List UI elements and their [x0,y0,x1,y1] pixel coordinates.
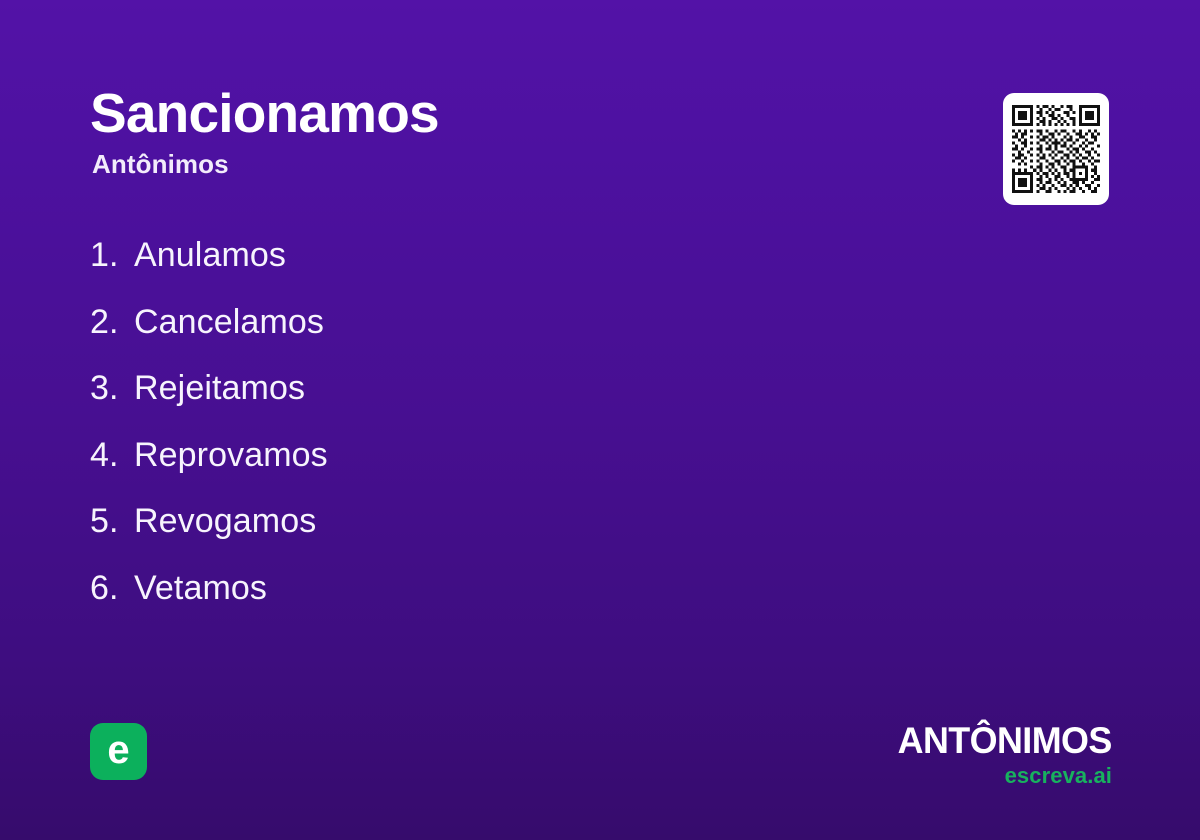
list-item-index: 2. [90,303,134,342]
escreva-e-logo-icon: e [90,723,147,780]
list-item: 3. Rejeitamos [90,369,850,436]
antonym-card: Sancionamos Antônimos [0,0,1200,840]
list-item-index: 6. [90,569,134,608]
list-item: 5. Revogamos [90,502,850,569]
list-item: 4. Reprovamos [90,436,850,503]
page-subtitle: Antônimos [92,149,950,180]
brand-lockup: ANTÔNIMOS escreva.ai [891,722,1112,787]
qr-code-icon [1012,105,1100,193]
list-item-word: Reprovamos [134,436,328,475]
page-title: Sancionamos [90,84,950,142]
list-item-word: Rejeitamos [134,369,305,408]
list-item-index: 1. [90,236,134,275]
list-item-word: Vetamos [134,569,267,608]
list-item-index: 3. [90,369,134,408]
list-item-index: 5. [90,502,134,541]
list-item-index: 4. [90,436,134,475]
list-item: 1. Anulamos [90,236,850,303]
badge-letter: e [107,730,129,770]
list-item-word: Cancelamos [134,303,324,342]
list-item-word: Anulamos [134,236,286,275]
card-header: Sancionamos Antônimos [90,84,950,180]
list-item: 6. Vetamos [90,569,850,636]
brand-website: escreva.ai [891,765,1112,787]
antonym-list: 1. Anulamos 2. Cancelamos 3. Rejeitamos … [90,236,850,635]
list-item-word: Revogamos [134,502,316,541]
brand-name: ANTÔNIMOS [898,722,1112,759]
list-item: 2. Cancelamos [90,303,850,370]
qr-code-card[interactable] [1003,93,1109,205]
